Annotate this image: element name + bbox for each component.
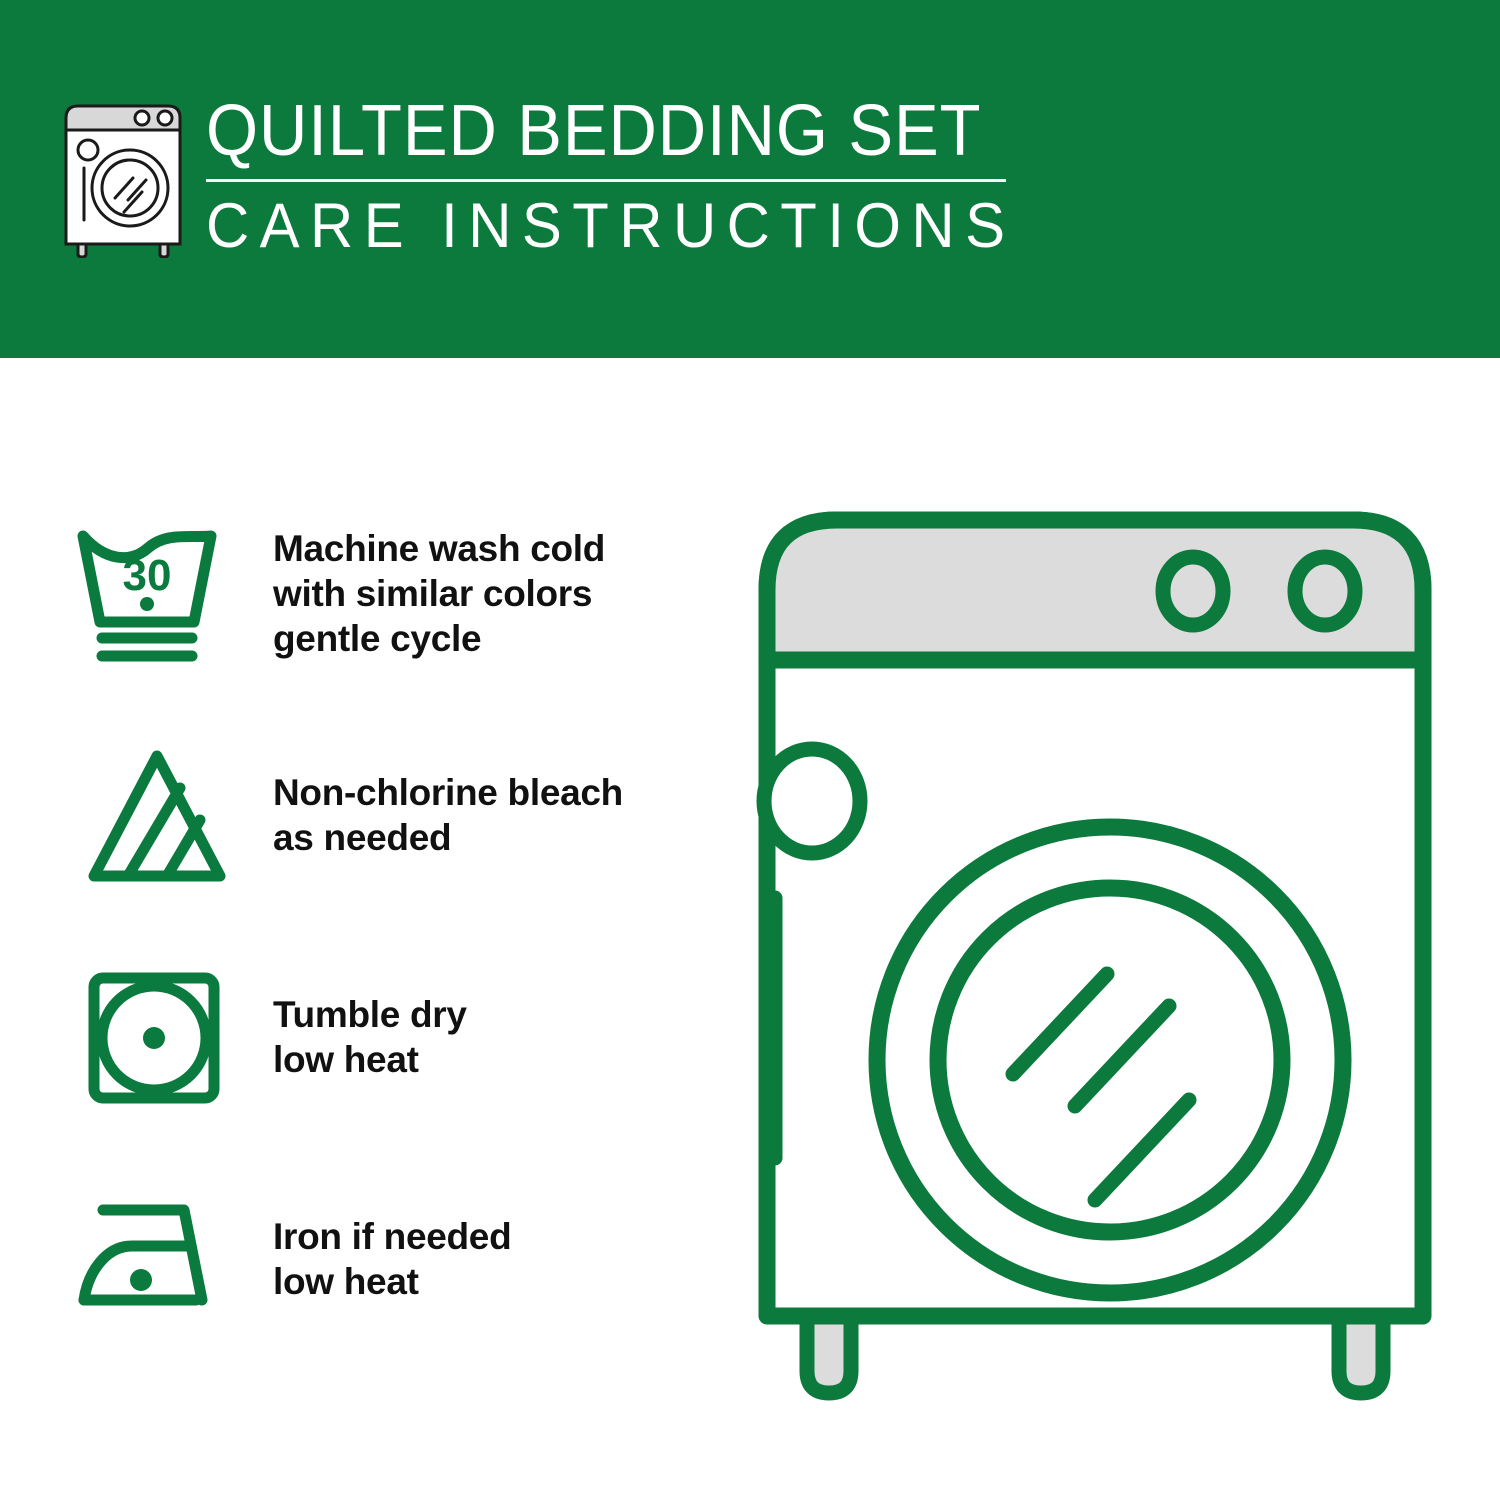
care-text-line: Iron if needed: [273, 1214, 511, 1259]
title-block: QUILTED BEDDING SET CARE INSTRUCTIONS: [206, 92, 1058, 260]
iron-low-heat-icon: [70, 1179, 245, 1339]
care-instruction-list: 30 Machine wash cold with similar colors…: [70, 508, 710, 1344]
header-inner: QUILTED BEDDING SET CARE INSTRUCTIONS: [62, 92, 1022, 260]
page-subtitle: CARE INSTRUCTIONS: [206, 192, 1015, 260]
washing-machine-illustration: [745, 498, 1445, 1428]
non-chlorine-bleach-icon: [70, 735, 245, 895]
care-row-bleach: Non-chlorine bleach as needed: [70, 730, 710, 900]
care-text-line: with similar colors: [273, 571, 605, 616]
care-text-bleach: Non-chlorine bleach as needed: [273, 770, 623, 860]
care-text-wash: Machine wash cold with similar colors ge…: [273, 526, 605, 661]
page-header: QUILTED BEDDING SET CARE INSTRUCTIONS: [0, 0, 1500, 358]
care-text-line: Tumble dry: [273, 992, 467, 1037]
machine-wash-30-gentle-icon: 30: [70, 513, 245, 673]
page-title: QUILTED BEDDING SET: [206, 92, 998, 170]
care-row-tumble-dry: Tumble dry low heat: [70, 952, 710, 1122]
care-row-wash: 30 Machine wash cold with similar colors…: [70, 508, 710, 678]
wash-temperature-label: 30: [123, 551, 172, 600]
washing-machine-icon: [62, 100, 184, 258]
care-text-line: Machine wash cold: [273, 526, 605, 571]
care-row-iron: Iron if needed low heat: [70, 1174, 710, 1344]
care-text-iron: Iron if needed low heat: [273, 1214, 511, 1304]
care-text-tumble-dry: Tumble dry low heat: [273, 992, 467, 1082]
care-text-line: as needed: [273, 815, 623, 860]
care-text-line: low heat: [273, 1037, 467, 1082]
care-text-line: Non-chlorine bleach: [273, 770, 623, 815]
page-content: 30 Machine wash cold with similar colors…: [0, 358, 1500, 1500]
tumble-dry-low-icon: [70, 957, 245, 1117]
care-text-line: gentle cycle: [273, 616, 605, 661]
title-divider: [206, 179, 1006, 182]
care-text-line: low heat: [273, 1259, 511, 1304]
